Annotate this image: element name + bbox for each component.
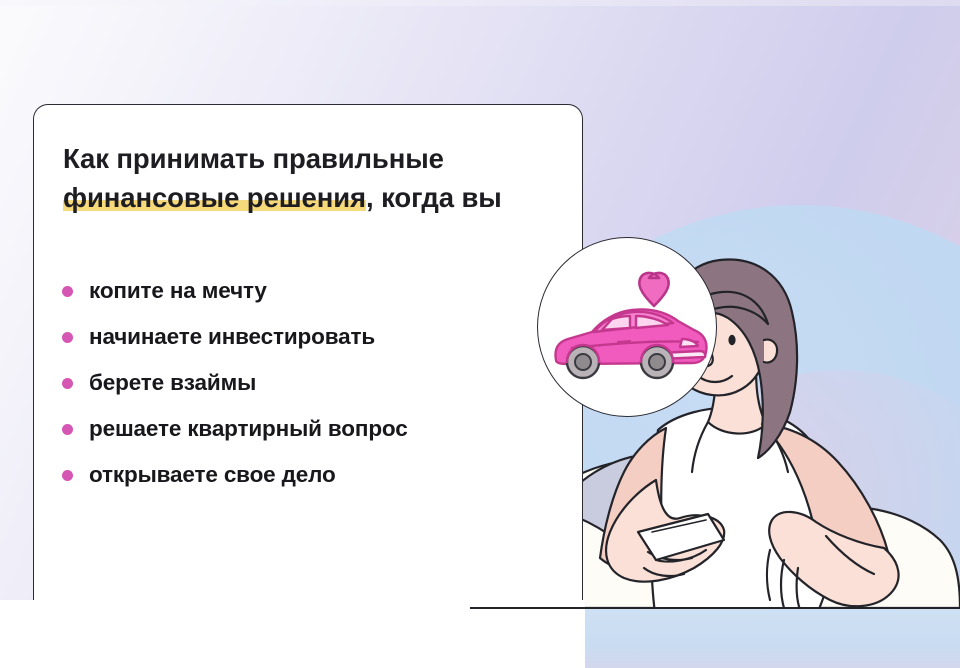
bullet-dot-icon [62,332,73,343]
list-item: копите на мечту [62,268,408,314]
list-item: открываете свое дело [62,452,408,498]
thought-bubble [537,237,717,417]
list-item: решаете квартирный вопрос [62,406,408,452]
heading-highlight: финансовые решения [63,182,366,213]
bullet-dot-icon [62,470,73,481]
bullet-dot-icon [62,286,73,297]
list-item-label: берете взаймы [89,370,256,396]
list-item-label: открываете свое дело [89,462,336,488]
bullet-dot-icon [62,424,73,435]
heart-icon [639,273,668,306]
list-item-label: копите на мечту [89,278,267,304]
heading-line-1: Как принимать правильные [63,143,444,174]
background-top-strip [0,0,960,6]
list-item-label: начинаете инвестировать [89,324,375,350]
page-title: Как принимать правильные финансовые реше… [63,140,583,218]
benefits-list: копите на мечту начинаете инвестировать … [62,268,408,498]
bullet-dot-icon [62,378,73,389]
floor-line [470,607,960,609]
card-bottom-mask [0,600,585,668]
heading-line-2-rest: , когда вы [366,182,502,213]
list-item: берете взаймы [62,360,408,406]
sports-car-icon [556,309,707,378]
illustration-stage: Как принимать правильные финансовые реше… [0,0,960,668]
list-item: начинаете инвестировать [62,314,408,360]
list-item-label: решаете квартирный вопрос [89,416,408,442]
